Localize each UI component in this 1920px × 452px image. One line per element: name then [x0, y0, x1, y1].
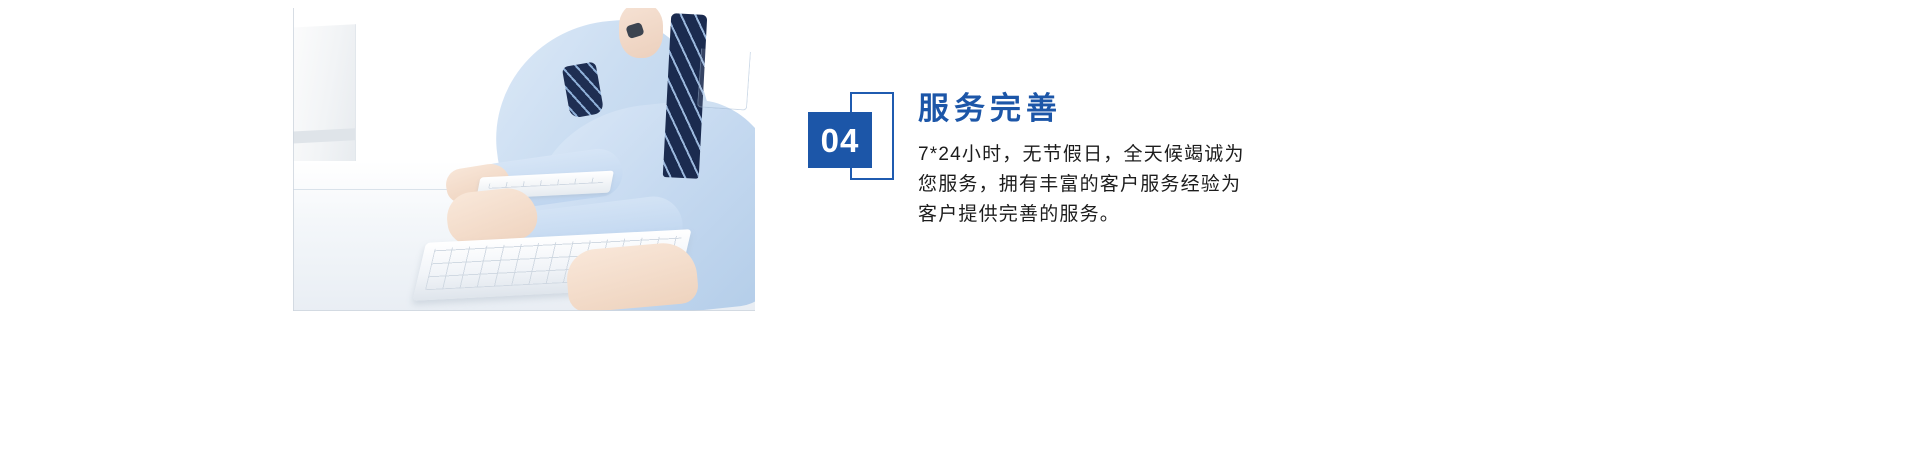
step-number-badge: 04: [808, 92, 896, 184]
feature-content: 04 服务完善 7*24小时，无节假日，全天候竭诚为 您服务，拥有丰富的客户服务…: [808, 92, 1245, 230]
feature-body-line-1: 7*24小时，无节假日，全天候竭诚为: [918, 140, 1245, 170]
person-front-hand-on-keyboard: [565, 240, 700, 311]
feature-body-line-3: 客户提供完善的服务。: [918, 200, 1245, 230]
monitor-band: [293, 128, 355, 144]
feature-text-column: 服务完善 7*24小时，无节假日，全天候竭诚为 您服务，拥有丰富的客户服务经验为…: [918, 92, 1245, 230]
photo-left-edge: [293, 8, 294, 311]
customer-service-team-photo: [293, 8, 755, 311]
photo-canvas: [293, 8, 755, 311]
keyboard-far-keys: [488, 177, 605, 189]
feature-section: 04 服务完善 7*24小时，无节假日，全天候竭诚为 您服务，拥有丰富的客户服务…: [0, 0, 1920, 452]
badge-number-label: 04: [821, 124, 860, 157]
feature-headline: 服务完善: [918, 92, 1245, 126]
feature-body-line-2: 您服务，拥有丰富的客户服务经验为: [918, 170, 1245, 200]
shirt-pocket: [697, 48, 751, 110]
badge-filled-square: 04: [808, 112, 872, 168]
photo-bottom-edge: [293, 310, 755, 311]
